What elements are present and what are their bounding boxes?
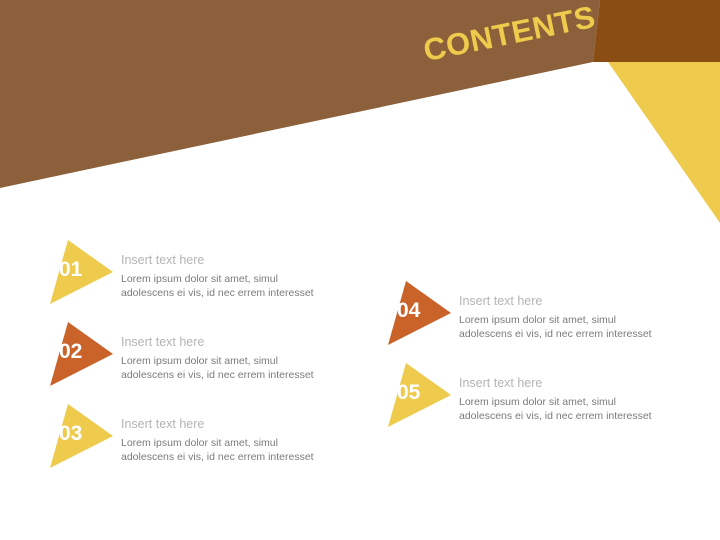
item-text-block: Insert text here Lorem ipsum dolor sit a… [121, 252, 346, 300]
item-number: 01 [59, 257, 105, 283]
item-body: Lorem ipsum dolor sit amet, simul adoles… [121, 436, 346, 464]
item-body-line-2: adolescens ei vis, id nec errem interess… [459, 409, 684, 423]
item-text-block: Insert text here Lorem ipsum dolor sit a… [459, 293, 684, 341]
item-body-line-1: Lorem ipsum dolor sit amet, simul [121, 436, 346, 450]
item-number: 03 [59, 421, 105, 447]
contents-slide: CONTENTS 01 Insert text here Lorem ipsum… [0, 0, 720, 540]
item-body: Lorem ipsum dolor sit amet, simul adoles… [459, 395, 684, 423]
item-heading: Insert text here [121, 416, 346, 433]
item-heading: Insert text here [459, 293, 684, 310]
item-body-line-2: adolescens ei vis, id nec errem interess… [121, 368, 346, 382]
item-body-line-1: Lorem ipsum dolor sit amet, simul [121, 354, 346, 368]
item-body-line-2: adolescens ei vis, id nec errem interess… [121, 286, 346, 300]
item-body-line-1: Lorem ipsum dolor sit amet, simul [121, 272, 346, 286]
yellow-corner-triangle [608, 62, 720, 223]
item-number: 04 [397, 298, 443, 324]
item-body-line-2: adolescens ei vis, id nec errem interess… [459, 327, 684, 341]
item-heading: Insert text here [459, 375, 684, 392]
item-body: Lorem ipsum dolor sit amet, simul adoles… [121, 272, 346, 300]
page-title: CONTENTS [418, 0, 655, 81]
item-heading: Insert text here [121, 252, 346, 269]
item-body: Lorem ipsum dolor sit amet, simul adoles… [459, 313, 684, 341]
item-body-line-1: Lorem ipsum dolor sit amet, simul [459, 395, 684, 409]
item-heading: Insert text here [121, 334, 346, 351]
item-number: 02 [59, 339, 105, 365]
item-body-line-1: Lorem ipsum dolor sit amet, simul [459, 313, 684, 327]
item-text-block: Insert text here Lorem ipsum dolor sit a… [459, 375, 684, 423]
item-body-line-2: adolescens ei vis, id nec errem interess… [121, 450, 346, 464]
item-text-block: Insert text here Lorem ipsum dolor sit a… [121, 334, 346, 382]
item-number: 05 [397, 380, 443, 406]
item-text-block: Insert text here Lorem ipsum dolor sit a… [121, 416, 346, 464]
item-body: Lorem ipsum dolor sit amet, simul adoles… [121, 354, 346, 382]
